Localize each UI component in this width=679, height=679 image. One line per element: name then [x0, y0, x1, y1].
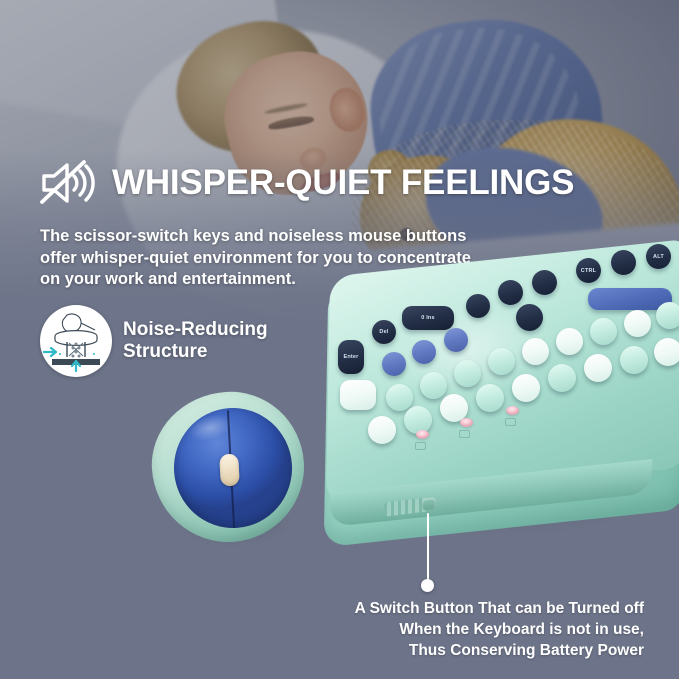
body-copy-line-1: The scissor-switch keys and noiseless mo… [40, 226, 545, 248]
keycap[interactable] [516, 304, 543, 331]
indicator-led-marking [415, 442, 426, 450]
wireless-keyboard: EnterDel0 InsCTRLALT [326, 248, 679, 548]
product-feature-banner: WHISPER-QUIET FEELINGS The scissor-switc… [0, 0, 679, 679]
keycap[interactable] [420, 372, 447, 399]
indicator-led-marking [459, 430, 470, 438]
indicator-led [460, 418, 473, 427]
keycap[interactable]: ALT [646, 244, 671, 269]
keycap[interactable] [476, 384, 504, 412]
keycap-label: ALT [646, 254, 671, 260]
badge-label: Noise-Reducing Structure [123, 319, 268, 363]
callout-line-3: Thus Conserving Battery Power [224, 640, 644, 661]
callout-line-2: When the Keyboard is not in use, [224, 619, 644, 640]
keycap[interactable] [340, 380, 376, 410]
page-title: WHISPER-QUIET FEELINGS [112, 163, 574, 203]
keycap-label: 0 Ins [402, 315, 454, 321]
badge-circle [40, 305, 112, 377]
keycap[interactable] [611, 250, 636, 275]
wireless-mouse [152, 392, 310, 554]
keycap-label: Del [372, 329, 396, 335]
keycap[interactable]: Del [372, 320, 396, 344]
keycap[interactable] [386, 384, 413, 411]
keycap[interactable] [522, 338, 549, 365]
keycap[interactable] [654, 338, 679, 366]
keycap[interactable] [444, 328, 468, 352]
callout-leader-line [427, 513, 429, 581]
noise-reducing-badge: Noise-Reducing Structure [40, 305, 268, 377]
keycap[interactable] [656, 302, 679, 329]
keycap-label: Enter [338, 354, 364, 360]
keycap[interactable] [548, 364, 576, 392]
callout-line-1: A Switch Button That can be Turned off [224, 598, 644, 619]
keycap[interactable] [624, 310, 651, 337]
keycap[interactable] [584, 354, 612, 382]
indicator-led [416, 430, 429, 439]
keycap[interactable] [498, 280, 523, 305]
callout-caption: A Switch Button That can be Turned off W… [224, 598, 644, 661]
keyboard-power-switch[interactable] [422, 497, 436, 511]
scissor-switch-cross-section-icon [40, 305, 112, 377]
indicator-led [506, 406, 519, 415]
keycap-label: CTRL [576, 268, 601, 274]
keycap[interactable]: 0 Ins [402, 306, 454, 330]
callout-dot [421, 579, 434, 592]
headline-row: WHISPER-QUIET FEELINGS [40, 158, 574, 208]
indicator-led-marking [505, 418, 516, 426]
keycap[interactable] [466, 294, 490, 318]
keycap[interactable] [382, 352, 406, 376]
mouse-scroll-wheel [219, 454, 240, 487]
keycap[interactable]: Enter [338, 340, 364, 374]
badge-label-line-2: Structure [123, 341, 268, 363]
keycap[interactable] [488, 348, 515, 375]
badge-label-line-1: Noise-Reducing [123, 319, 268, 341]
keycap[interactable] [620, 346, 648, 374]
keycap[interactable] [532, 270, 557, 295]
keycap[interactable] [454, 360, 481, 387]
keycap[interactable]: CTRL [576, 258, 601, 283]
keycap[interactable] [512, 374, 540, 402]
keycap[interactable] [412, 340, 436, 364]
keycap[interactable] [368, 416, 396, 444]
keycap[interactable] [556, 328, 583, 355]
mute-speaker-icon [40, 158, 100, 208]
keycap[interactable] [590, 318, 617, 345]
